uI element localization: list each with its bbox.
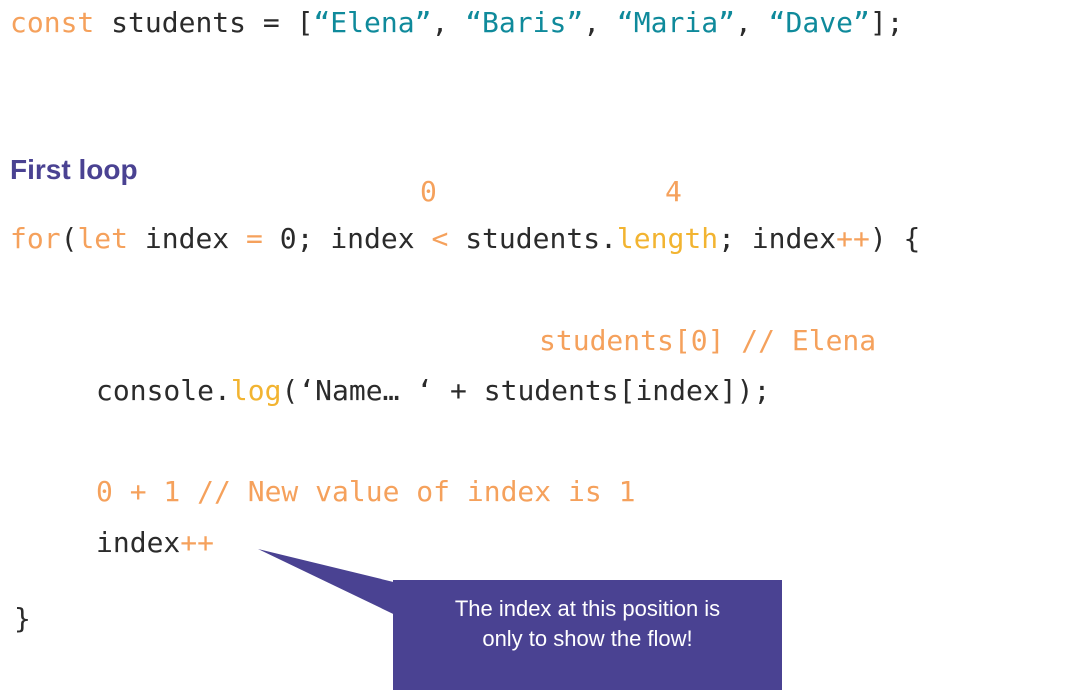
annotation-index-start: 0 (420, 175, 437, 209)
slide-canvas: const students = [“Elena”, “Baris”, “Mar… (0, 0, 1067, 690)
console-object: console. (96, 374, 231, 407)
method-log: log (231, 374, 282, 407)
string-maria: “Maria” (617, 6, 735, 39)
keyword-let: let (77, 222, 128, 255)
space-after-const (94, 6, 111, 39)
assignment-open-bracket: = [ (246, 6, 313, 39)
init-value-zero: 0; (280, 222, 331, 255)
annotation-increment-explanation: 0 + 1 // New value of index is 1 (96, 475, 635, 509)
annotation-array-access: students[0] // Elena (539, 324, 876, 358)
var-index-condition: index (330, 222, 414, 255)
operator-less-than: < (415, 222, 466, 255)
annotation-array-length: 4 (665, 175, 682, 209)
callout-box: The index at this position is only to sh… (393, 580, 782, 690)
heading-first-loop: First loop (10, 153, 138, 187)
string-elena: “Elena” (313, 6, 431, 39)
semicolon-separator: ; (718, 222, 752, 255)
var-index-init: index (145, 222, 229, 255)
operator-increment-for: ++ (836, 222, 870, 255)
comma-1: , (431, 6, 465, 39)
callout-annotation: The index at this position is only to sh… (0, 0, 1067, 690)
paren-open: ( (61, 222, 78, 255)
keyword-const: const (10, 6, 94, 39)
comma-3: , (735, 6, 769, 39)
callout-arrow-icon (250, 540, 410, 630)
var-index-update: index (752, 222, 836, 255)
paren-close-open-brace: ) { (870, 222, 921, 255)
code-line-increment: index++ (96, 526, 214, 560)
keyword-for: for (10, 222, 61, 255)
code-line-console-log: console.log(‘Name… ‘ + students[index]); (96, 374, 770, 408)
space-after-let (128, 222, 145, 255)
operator-increment-standalone: ++ (180, 526, 214, 559)
variable-students: students (111, 6, 246, 39)
operator-equals: = (229, 222, 280, 255)
property-length: length (617, 222, 718, 255)
log-arguments: (‘Name… ‘ + students[index]); (281, 374, 770, 407)
string-baris: “Baris” (465, 6, 583, 39)
code-line-declaration: const students = [“Elena”, “Baris”, “Mar… (10, 6, 904, 40)
var-index-standalone: index (96, 526, 180, 559)
code-line-for-statement: for(let index = 0; index < students.leng… (10, 222, 920, 256)
comma-2: , (583, 6, 617, 39)
code-line-closing-brace: } (14, 602, 31, 636)
students-member-access: students. (465, 222, 617, 255)
callout-text: The index at this position is only to sh… (455, 594, 720, 654)
string-dave: “Dave” (769, 6, 870, 39)
close-bracket-semicolon: ]; (870, 6, 904, 39)
